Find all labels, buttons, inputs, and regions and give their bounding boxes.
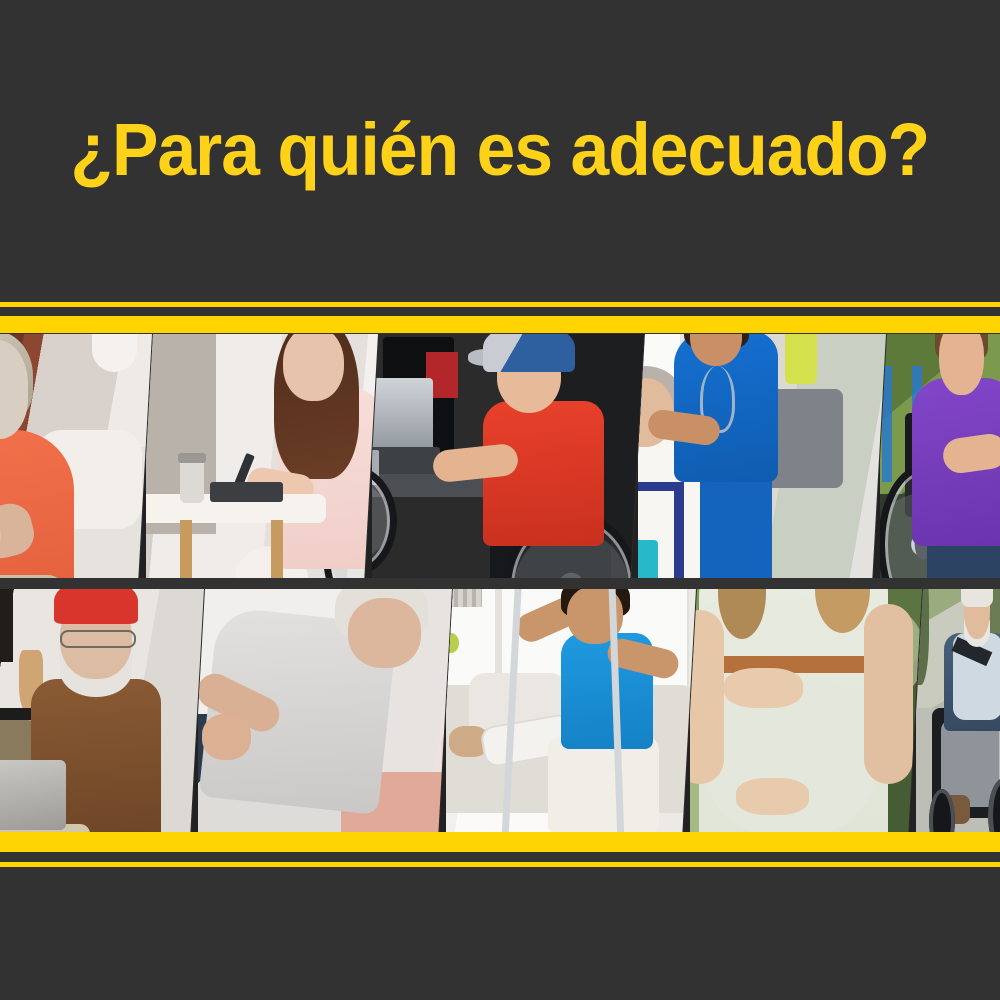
photo-panel-7	[190, 589, 466, 832]
photo-panel-9	[682, 589, 936, 832]
page-title: ¿Para quién es adecuado?	[71, 113, 930, 187]
divider-top-thin	[0, 302, 1000, 307]
photo-panel-10	[908, 589, 1000, 832]
scene-senior-woman-lumbar-pain	[198, 589, 458, 832]
divider-bottom-thin	[0, 862, 1000, 867]
divider-top-thick	[0, 316, 1000, 333]
collage-row-top	[0, 334, 1000, 578]
scene-pregnant-woman	[690, 589, 928, 832]
header-band: ¿Para quién es adecuado?	[0, 0, 1000, 300]
scene-wheelchair-woman-desk	[146, 334, 384, 578]
photo-panel-2	[138, 334, 392, 578]
photo-panel-5	[872, 334, 1000, 578]
divider-bottom-thick	[0, 832, 1000, 852]
scene-senior-power-wheelchair	[916, 589, 1000, 832]
scene-nurse-assisting-patient	[638, 334, 892, 578]
photo-panel-3	[364, 334, 658, 578]
scene-senior-man-laptop	[0, 589, 212, 832]
photo-panel-6	[0, 589, 220, 832]
photo-panel-4	[630, 334, 900, 578]
scene-young-man-purple-hoodie	[880, 334, 1000, 578]
photo-panel-8	[438, 589, 710, 832]
scene-leg-cast-crutches	[446, 589, 702, 832]
collage-row-bottom	[0, 589, 1000, 832]
poster: ¿Para quién es adecuado?	[0, 0, 1000, 1000]
scene-elderly-back-pain	[0, 334, 158, 578]
scene-workshop-wheelchair-man	[372, 334, 650, 578]
